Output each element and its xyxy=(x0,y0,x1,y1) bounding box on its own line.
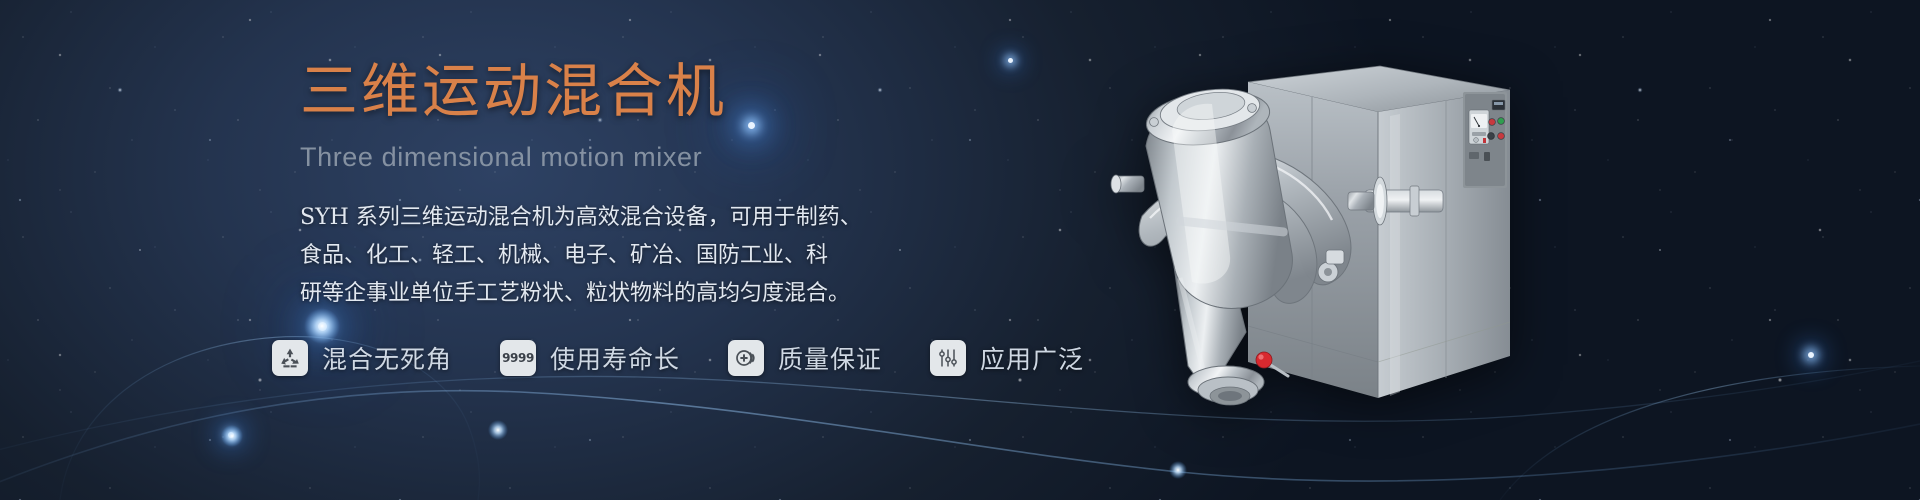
feature-item-quality-guarantee[interactable]: 质量保证 xyxy=(728,340,882,376)
feature-label: 混合无死角 xyxy=(322,340,452,376)
starfield-medium-layer xyxy=(0,0,1920,500)
feature-label: 质量保证 xyxy=(778,340,882,376)
page-subtitle: Three dimensional motion mixer xyxy=(300,142,940,173)
product-hero-banner: 三维运动混合机 Three dimensional motion mixer S… xyxy=(0,0,1920,500)
glow-star-lower-left xyxy=(228,432,234,438)
page-title: 三维运动混合机 xyxy=(300,62,940,120)
description-line-1: SYH 系列三维运动混合机为高效混合设备，可用于制药、 xyxy=(300,199,810,237)
description-line-3: 研等企事业单位手工艺粉状、粒状物料的高均匀度混合。 xyxy=(300,275,810,313)
glow-star-left xyxy=(318,322,327,331)
glow-star-right xyxy=(1808,352,1814,358)
network-arc-overlay xyxy=(0,0,1920,500)
feature-list: 混合无死角 9999 使用寿命长 质量保证 xyxy=(272,340,1084,376)
counter-value: 9999 xyxy=(502,351,534,365)
glow-star-upper xyxy=(1008,58,1013,63)
feature-label: 应用广泛 xyxy=(980,340,1084,376)
target-plus-icon xyxy=(728,340,764,376)
counter-9999-icon: 9999 xyxy=(500,340,536,376)
product-description: SYH 系列三维运动混合机为高效混合设备，可用于制药、 食品、化工、轻工、机械、… xyxy=(300,199,810,312)
product-image xyxy=(1080,26,1510,456)
starfield-small-layer xyxy=(0,0,1920,500)
description-line-2: 食品、化工、轻工、机械、电子、矿冶、国防工业、科 xyxy=(300,237,810,275)
feature-item-wide-application[interactable]: 应用广泛 xyxy=(930,340,1084,376)
control-panel xyxy=(1463,92,1507,188)
recycle-icon xyxy=(272,340,308,376)
feature-item-no-dead-angle[interactable]: 混合无死角 xyxy=(272,340,452,376)
sliders-icon xyxy=(930,340,966,376)
starfield-large-layer xyxy=(0,0,1920,500)
feature-item-long-life[interactable]: 9999 使用寿命长 xyxy=(500,340,680,376)
hero-copy: 三维运动混合机 Three dimensional motion mixer S… xyxy=(300,62,940,312)
mixing-vessel xyxy=(1111,84,1292,405)
feature-label: 使用寿命长 xyxy=(550,340,680,376)
